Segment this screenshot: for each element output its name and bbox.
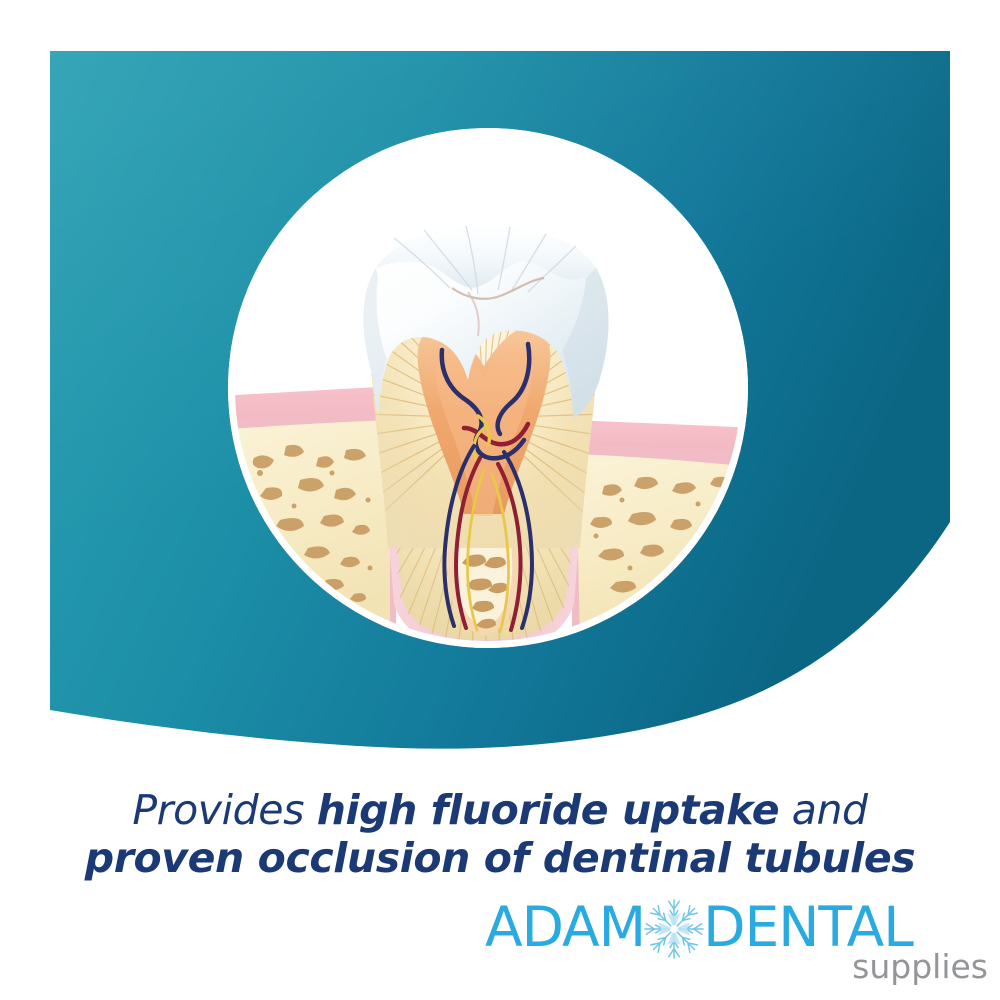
logo-supplies-text: supplies	[852, 950, 988, 983]
tagline-line1-emphasis: high fluoride uptake	[317, 786, 779, 834]
tagline: Provides high fluoride uptake and proven…	[0, 786, 1000, 883]
logo-word-adam: ADAM	[485, 900, 645, 955]
tagline-line1-part2: and	[779, 786, 868, 834]
alveolar-bone-right	[572, 420, 748, 648]
alveolar-bone-left	[228, 386, 396, 648]
tooth-cross-section-illustration	[228, 128, 748, 648]
poster-canvas: Provides high fluoride uptake and proven…	[0, 0, 1000, 1000]
tagline-line-2: proven occlusion of dentinal tubules	[0, 834, 1000, 882]
snowflake-starburst-icon	[641, 896, 707, 962]
adam-dental-logo[interactable]: ADAM	[485, 898, 990, 990]
tagline-line1-part1: Provides	[132, 786, 316, 834]
tagline-line-1: Provides high fluoride uptake and	[0, 786, 1000, 834]
tooth-illustration-circle	[228, 128, 748, 648]
